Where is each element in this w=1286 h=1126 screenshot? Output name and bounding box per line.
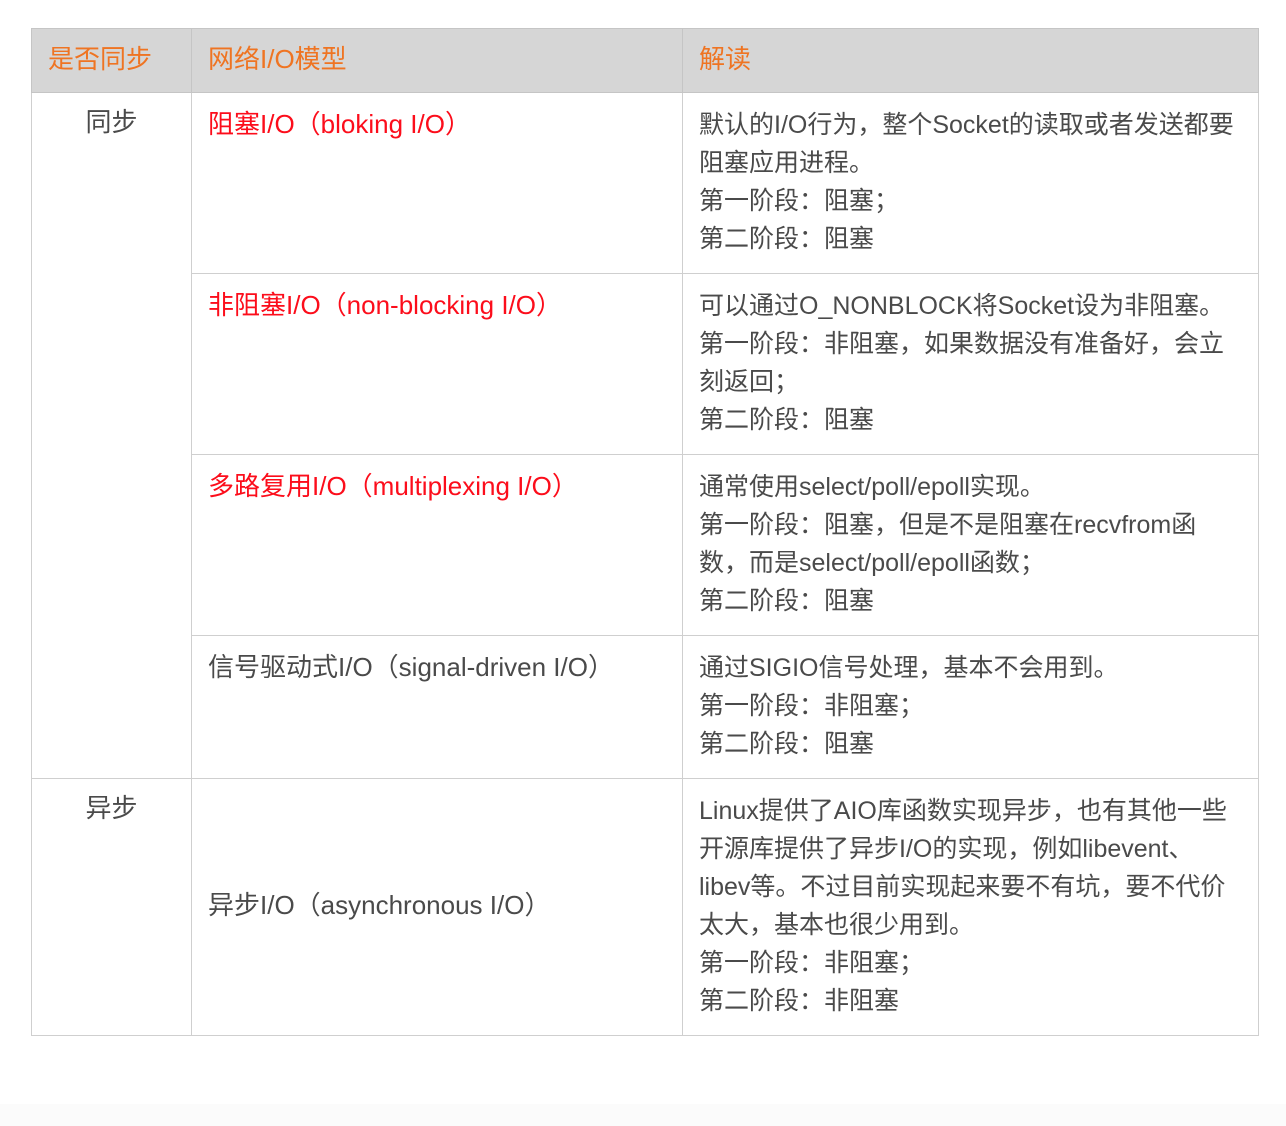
column-header-explanation: 解读 — [683, 29, 1259, 93]
table-row: 多路复用I/O（multiplexing I/O） 通常使用select/pol… — [32, 454, 1259, 635]
model-cell-non-blocking-io: 非阻塞I/O（non-blocking I/O） — [192, 273, 683, 454]
model-cell-multiplexing-io: 多路复用I/O（multiplexing I/O） — [192, 454, 683, 635]
table-row: 信号驱动式I/O（signal-driven I/O） 通过SIGIO信号处理，… — [32, 635, 1259, 778]
sync-group-cell-asynchronous: 异步 — [32, 778, 192, 1035]
explanation-cell-non-blocking-io: 可以通过O_NONBLOCK将Socket设为非阻塞。 第一阶段：非阻塞，如果数… — [683, 273, 1259, 454]
explanation-cell-asynchronous-io: Linux提供了AIO库函数实现异步，也有其他一些开源库提供了异步I/O的实现，… — [683, 778, 1259, 1035]
model-cell-signal-driven-io: 信号驱动式I/O（signal-driven I/O） — [192, 635, 683, 778]
table-row: 非阻塞I/O（non-blocking I/O） 可以通过O_NONBLOCK将… — [32, 273, 1259, 454]
table-row: 异步 异步I/O（asynchronous I/O） Linux提供了AIO库函… — [32, 778, 1259, 1035]
column-header-sync: 是否同步 — [32, 29, 192, 93]
table-row: 同步 阻塞I/O（bloking I/O） 默认的I/O行为，整个Socket的… — [32, 92, 1259, 273]
model-cell-asynchronous-io: 异步I/O（asynchronous I/O） — [192, 778, 683, 1035]
table-header: 是否同步 网络I/O模型 解读 — [32, 29, 1259, 93]
network-io-model-table: 是否同步 网络I/O模型 解读 同步 阻塞I/O（bloking I/O） 默认… — [31, 28, 1259, 1036]
io-model-table-container: 是否同步 网络I/O模型 解读 同步 阻塞I/O（bloking I/O） 默认… — [31, 28, 1258, 1036]
sync-group-cell-synchronous: 同步 — [32, 92, 192, 778]
column-header-model: 网络I/O模型 — [192, 29, 683, 93]
table-body: 同步 阻塞I/O（bloking I/O） 默认的I/O行为，整个Socket的… — [32, 92, 1259, 1035]
table-header-row: 是否同步 网络I/O模型 解读 — [32, 29, 1259, 93]
explanation-cell-blocking-io: 默认的I/O行为，整个Socket的读取或者发送都要阻塞应用进程。 第一阶段：阻… — [683, 92, 1259, 273]
explanation-cell-multiplexing-io: 通常使用select/poll/epoll实现。 第一阶段：阻塞，但是不是阻塞在… — [683, 454, 1259, 635]
page-root: 是否同步 网络I/O模型 解读 同步 阻塞I/O（bloking I/O） 默认… — [0, 0, 1286, 1126]
model-cell-blocking-io: 阻塞I/O（bloking I/O） — [192, 92, 683, 273]
explanation-cell-signal-driven-io: 通过SIGIO信号处理，基本不会用到。 第一阶段：非阻塞； 第二阶段：阻塞 — [683, 635, 1259, 778]
